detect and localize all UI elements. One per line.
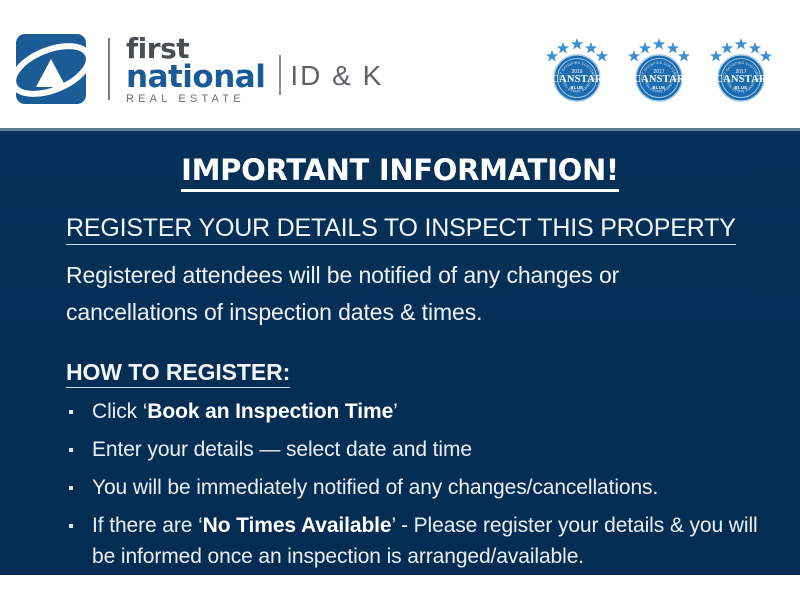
list-item-pre: Enter your details — select date and tim…	[92, 438, 472, 461]
instruction-list: Click ‘Book an Inspection Time’ Enter yo…	[0, 396, 800, 572]
canstar-badge: MOST SATISFIED CUSTOMERS REAL ESTATE AGE…	[704, 28, 778, 104]
office-name: ID & K	[290, 60, 383, 92]
page-title: IMPORTANT INFORMATION!	[0, 153, 800, 187]
first-national-logo-mark	[14, 32, 88, 106]
list-item-strong: No Times Available	[203, 514, 392, 537]
how-to-register-heading: HOW TO REGISTER:	[66, 359, 800, 386]
badge-brand: CANSTAR	[551, 74, 603, 85]
badge-sub: BLUE	[735, 85, 748, 90]
list-item: Enter your details — select date and tim…	[92, 434, 760, 465]
canstar-badge: MOST SATISFIED CUSTOMERS REAL ESTATE AGE…	[622, 28, 696, 104]
information-panel: IMPORTANT INFORMATION! REGISTER YOUR DET…	[0, 128, 800, 575]
list-item-pre: If there are ‘	[92, 514, 203, 537]
office-divider	[279, 55, 281, 95]
subheading: REGISTER YOUR DETAILS TO INSPECT THIS PR…	[66, 214, 800, 243]
list-item: Click ‘Book an Inspection Time’	[92, 396, 760, 427]
wordmark-first: first	[126, 35, 265, 62]
list-item-pre: You will be immediately notified of any …	[92, 476, 658, 499]
list-item: You will be immediately notified of any …	[92, 472, 760, 503]
badge-sub: BLUE	[653, 85, 666, 90]
brand-divider	[108, 38, 110, 100]
page-title-text: IMPORTANT INFORMATION!	[181, 153, 619, 192]
canstar-badge: MOST SATISFIED CUSTOMERS REAL ESTATE AGE…	[540, 28, 614, 104]
list-item-strong: Book an Inspection Time	[147, 400, 393, 423]
brand-lockup: first national REAL ESTATE ID & K	[14, 30, 383, 108]
badge-sub: BLUE	[571, 85, 584, 90]
slide-canvas: first national REAL ESTATE ID & K	[0, 0, 800, 600]
wordmark-tagline: REAL ESTATE	[126, 93, 265, 106]
award-badge-group: MOST SATISFIED CUSTOMERS REAL ESTATE AGE…	[540, 28, 778, 104]
how-to-register-text: HOW TO REGISTER:	[66, 359, 290, 388]
header-bar: first national REAL ESTATE ID & K	[0, 0, 800, 128]
list-item-post: ’	[393, 400, 398, 423]
brand-wordmark: first national REAL ESTATE	[126, 35, 265, 106]
subheading-text: REGISTER YOUR DETAILS TO INSPECT THIS PR…	[66, 214, 736, 245]
intro-paragraph: Registered attendees will be notified of…	[66, 257, 726, 331]
footer-whitespace	[0, 575, 800, 600]
badge-brand: CANSTAR	[633, 74, 685, 85]
wordmark-national: national	[126, 62, 265, 93]
list-item-pre: Click ‘	[92, 400, 147, 423]
badge-brand: CANSTAR	[715, 74, 767, 85]
list-item: If there are ‘No Times Available’ - Plea…	[92, 510, 760, 572]
